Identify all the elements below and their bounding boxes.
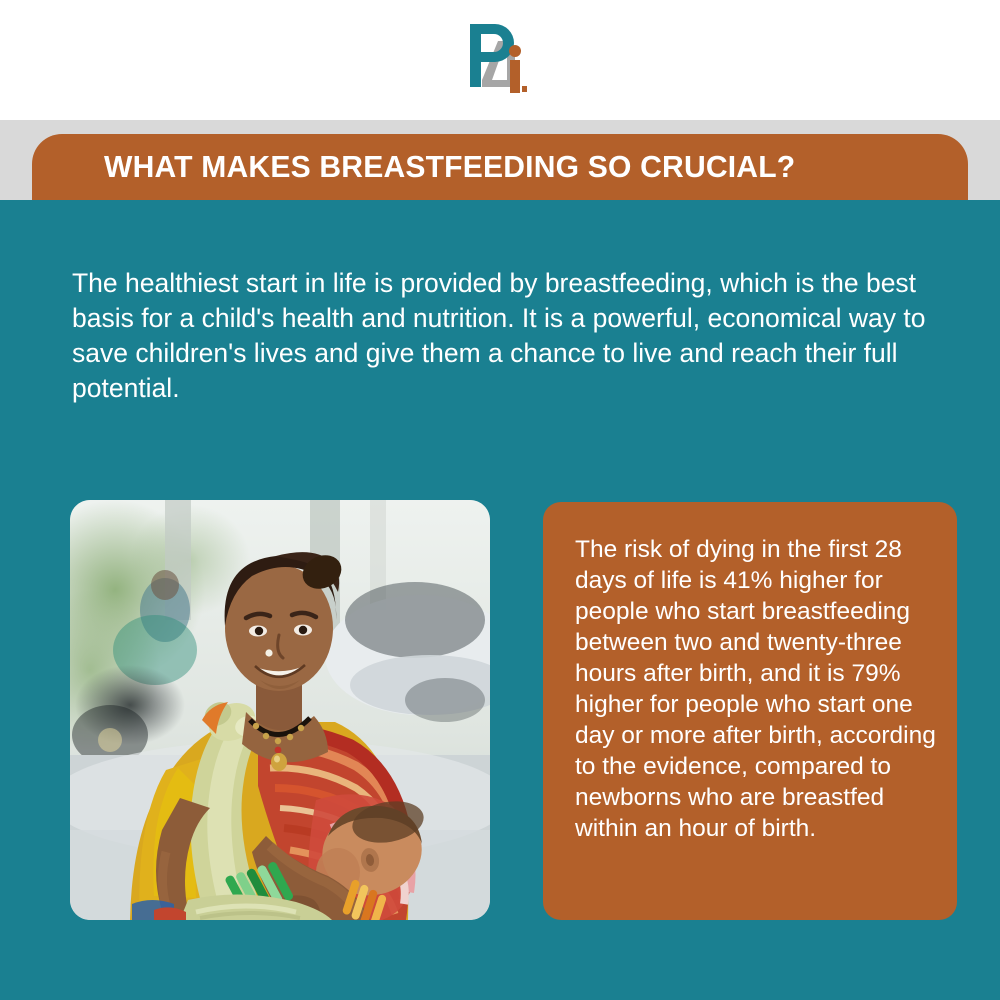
header-banner: WHAT MAKES BREASTFEEDING SO CRUCIAL? (32, 134, 968, 200)
statistic-callout-text: The risk of dying in the first 28 days o… (575, 534, 941, 844)
logo-strip (0, 0, 1000, 120)
statistic-callout-box: The risk of dying in the first 28 days o… (543, 502, 957, 920)
intro-paragraph: The healthiest start in life is provided… (72, 266, 932, 406)
infographic-poster: WHAT MAKES BREASTFEEDING SO CRUCIAL? The… (0, 0, 1000, 1000)
p4i-logo (462, 18, 542, 102)
page-title: WHAT MAKES BREASTFEEDING SO CRUCIAL? (104, 149, 795, 185)
photo-card (70, 500, 490, 920)
logo-letter-i-shape (509, 45, 527, 93)
mother-breastfeeding-photo (70, 500, 490, 920)
